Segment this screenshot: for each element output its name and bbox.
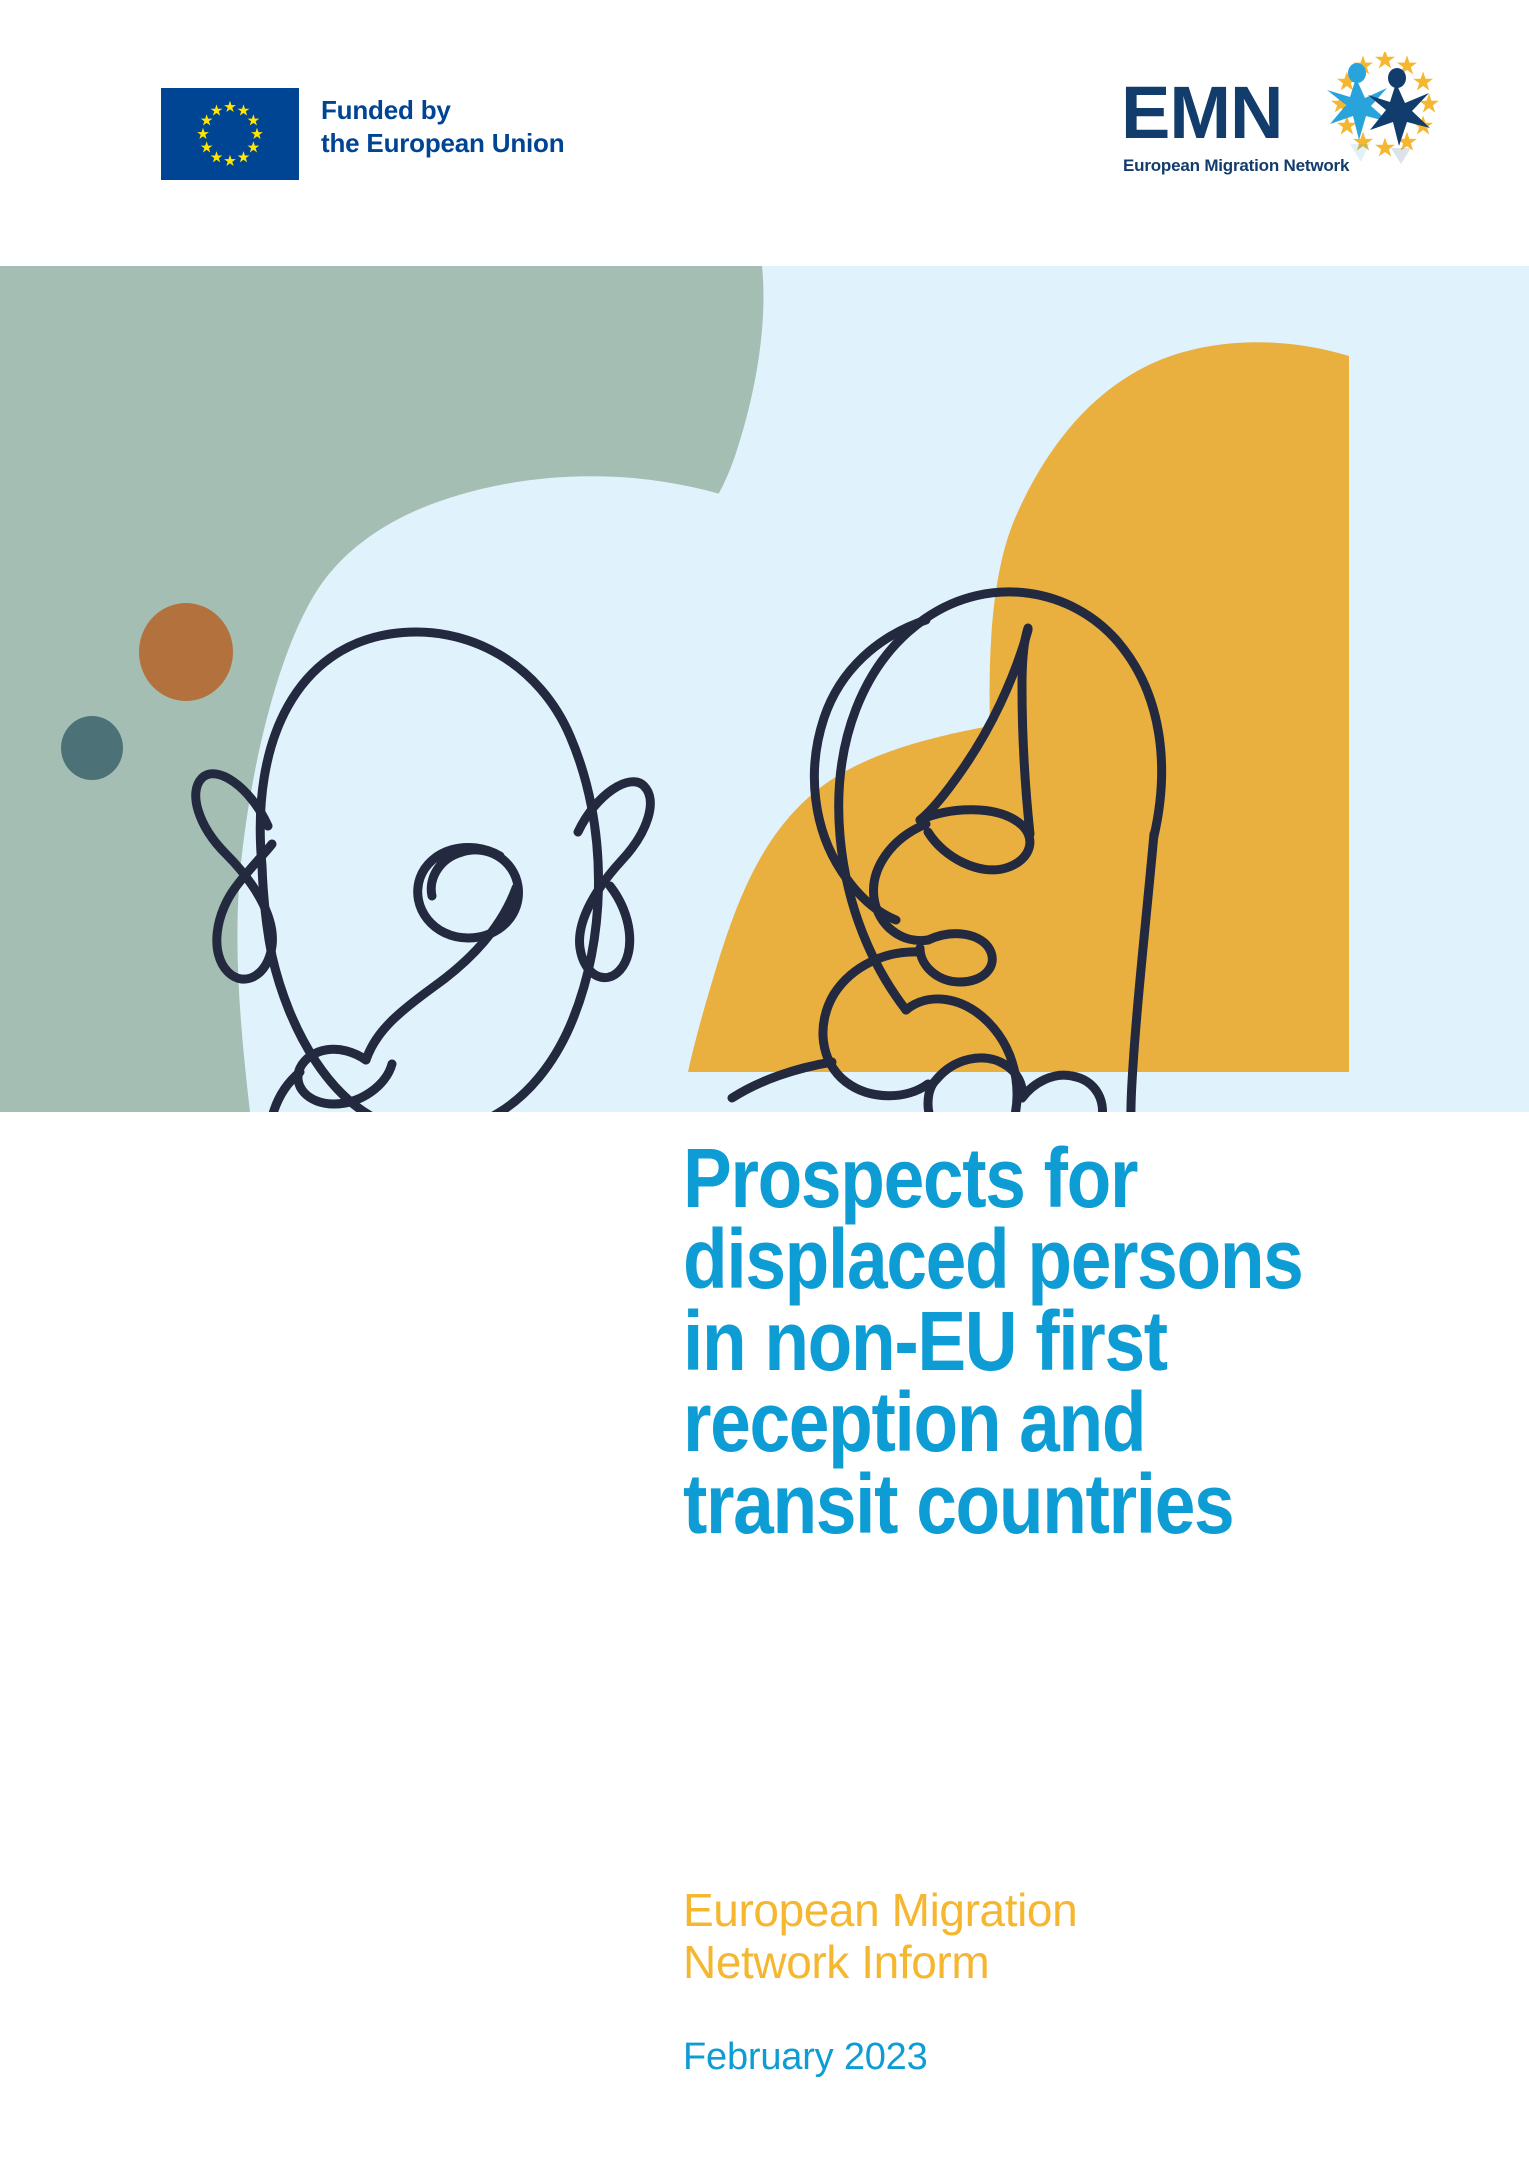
emn-wordmark: EMN: [1121, 76, 1282, 150]
emn-tagline: European Migration Network: [1123, 156, 1349, 176]
title-block: Prospects for displaced persons in non-E…: [683, 1138, 1463, 1545]
teal-circle: [61, 716, 123, 780]
abstract-line-art-faces-illustration: [0, 266, 1529, 1112]
eu-funding-text: Funded by the European Union: [321, 88, 564, 161]
eu-flag-icon: [161, 88, 299, 180]
series-name: European Migration Network Inform: [683, 1885, 1463, 1988]
footer-block: European Migration Network Inform Februa…: [683, 1885, 1463, 2079]
eu-flag-stars-icon: [161, 88, 299, 180]
page-title: Prospects for displaced persons in non-E…: [683, 1138, 1362, 1545]
emn-people-stars-icon: [1313, 52, 1441, 164]
publication-date: February 2023: [683, 1988, 1463, 2079]
emn-logo: EMN: [1121, 52, 1441, 192]
brown-circle: [139, 603, 233, 701]
page-header: Funded by the European Union EMN: [0, 0, 1529, 266]
eu-funding-emblem: Funded by the European Union: [161, 88, 564, 180]
cover-illustration: [0, 266, 1529, 1112]
